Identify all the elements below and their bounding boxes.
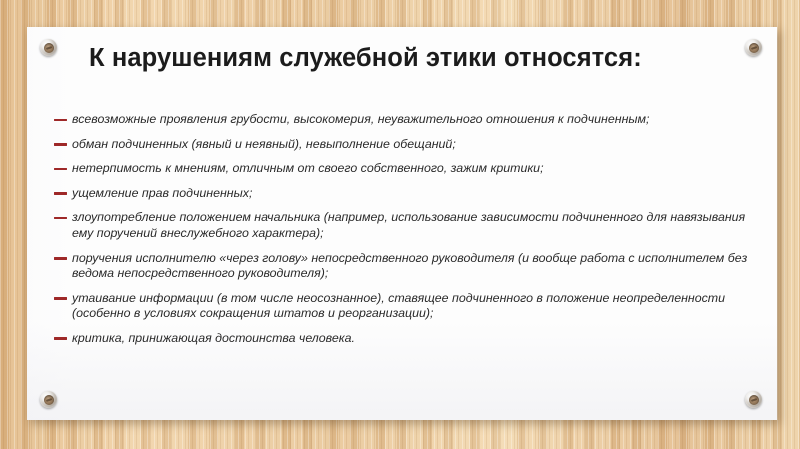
bullet-list: всевозможные проявления грубости, высоко… [45,112,760,347]
screw-icon-bottom-left [40,391,57,408]
screw-icon-top-left [40,39,57,56]
dash-bullet-icon [54,143,67,146]
list-item: ущемление прав подчиненных; [45,186,760,202]
screw-icon-top-right [745,39,762,56]
list-item: критика, принижающая достоинства человек… [45,331,760,347]
list-item-text: всевозможные проявления грубости, высоко… [72,112,649,126]
dash-bullet-icon [54,337,67,340]
list-item: утаивание информации (в том числе неосоз… [45,291,760,322]
list-item: нетерпимость к мнениям, отличным от свое… [45,161,760,177]
dash-bullet-icon [54,217,67,220]
dash-bullet-icon [54,168,67,171]
list-item: обман подчиненных (явный и неявный), нев… [45,137,760,153]
slide-title: К нарушениям служебной этики относятся: [89,42,729,75]
dash-bullet-icon [54,119,67,122]
dash-bullet-icon [54,297,67,300]
list-item-text: критика, принижающая достоинства человек… [72,331,355,345]
list-item: всевозможные проявления грубости, высоко… [45,112,760,128]
list-item-text: нетерпимость к мнениям, отличным от свое… [72,161,544,175]
slide-stage: К нарушениям служебной этики относятся: … [0,0,800,449]
list-item-text: злоупотребление положением начальника (н… [72,210,745,240]
list-item: злоупотребление положением начальника (н… [45,210,760,241]
list-item-text: ущемление прав подчиненных; [72,186,252,200]
presentation-board: К нарушениям служебной этики относятся: … [27,27,777,420]
list-item-text: обман подчиненных (явный и неявный), нев… [72,137,456,151]
list-item-text: утаивание информации (в том числе неосоз… [72,291,725,321]
list-item-text: поручения исполнителю «через голову» неп… [72,251,747,281]
list-item: поручения исполнителю «через голову» неп… [45,251,760,282]
dash-bullet-icon [54,192,67,195]
dash-bullet-icon [54,257,67,260]
screw-icon-bottom-right [745,391,762,408]
